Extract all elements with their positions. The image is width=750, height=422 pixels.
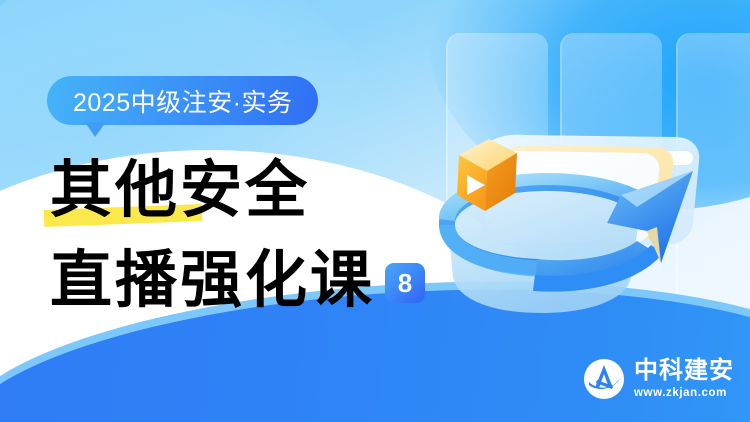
badge-label: 2025中级注安·实务 [73, 83, 292, 119]
badge-pill: 2025中级注安·实务 [47, 76, 318, 125]
brand-url: www.zkjan.com [634, 388, 734, 400]
folder-arrow-video-illustration [425, 95, 725, 345]
zkjan-circle-logo-icon [583, 358, 625, 400]
course-promo-banner: 2025中级注安·实务 其他安全 直播强化课8 中科建安 www.zkjan.c… [0, 0, 750, 422]
speech-bubble-tail-icon [85, 122, 106, 137]
brand-logo-text: 中科建安 www.zkjan.com [634, 359, 734, 400]
headline-block: 其他安全 直播强化课8 [50, 155, 470, 317]
brand-logo: 中科建安 www.zkjan.com [583, 358, 734, 400]
title-line-1-text: 其他安全 [50, 157, 310, 225]
brand-name: 中科建安 [634, 359, 734, 383]
title-line-2: 直播强化课8 [50, 245, 470, 317]
episode-number-badge: 8 [385, 263, 425, 303]
title-line-1: 其他安全 [50, 155, 470, 227]
course-category-badge: 2025中级注安·实务 [47, 76, 318, 125]
title-line-2-text: 直播强化课 [50, 247, 375, 315]
